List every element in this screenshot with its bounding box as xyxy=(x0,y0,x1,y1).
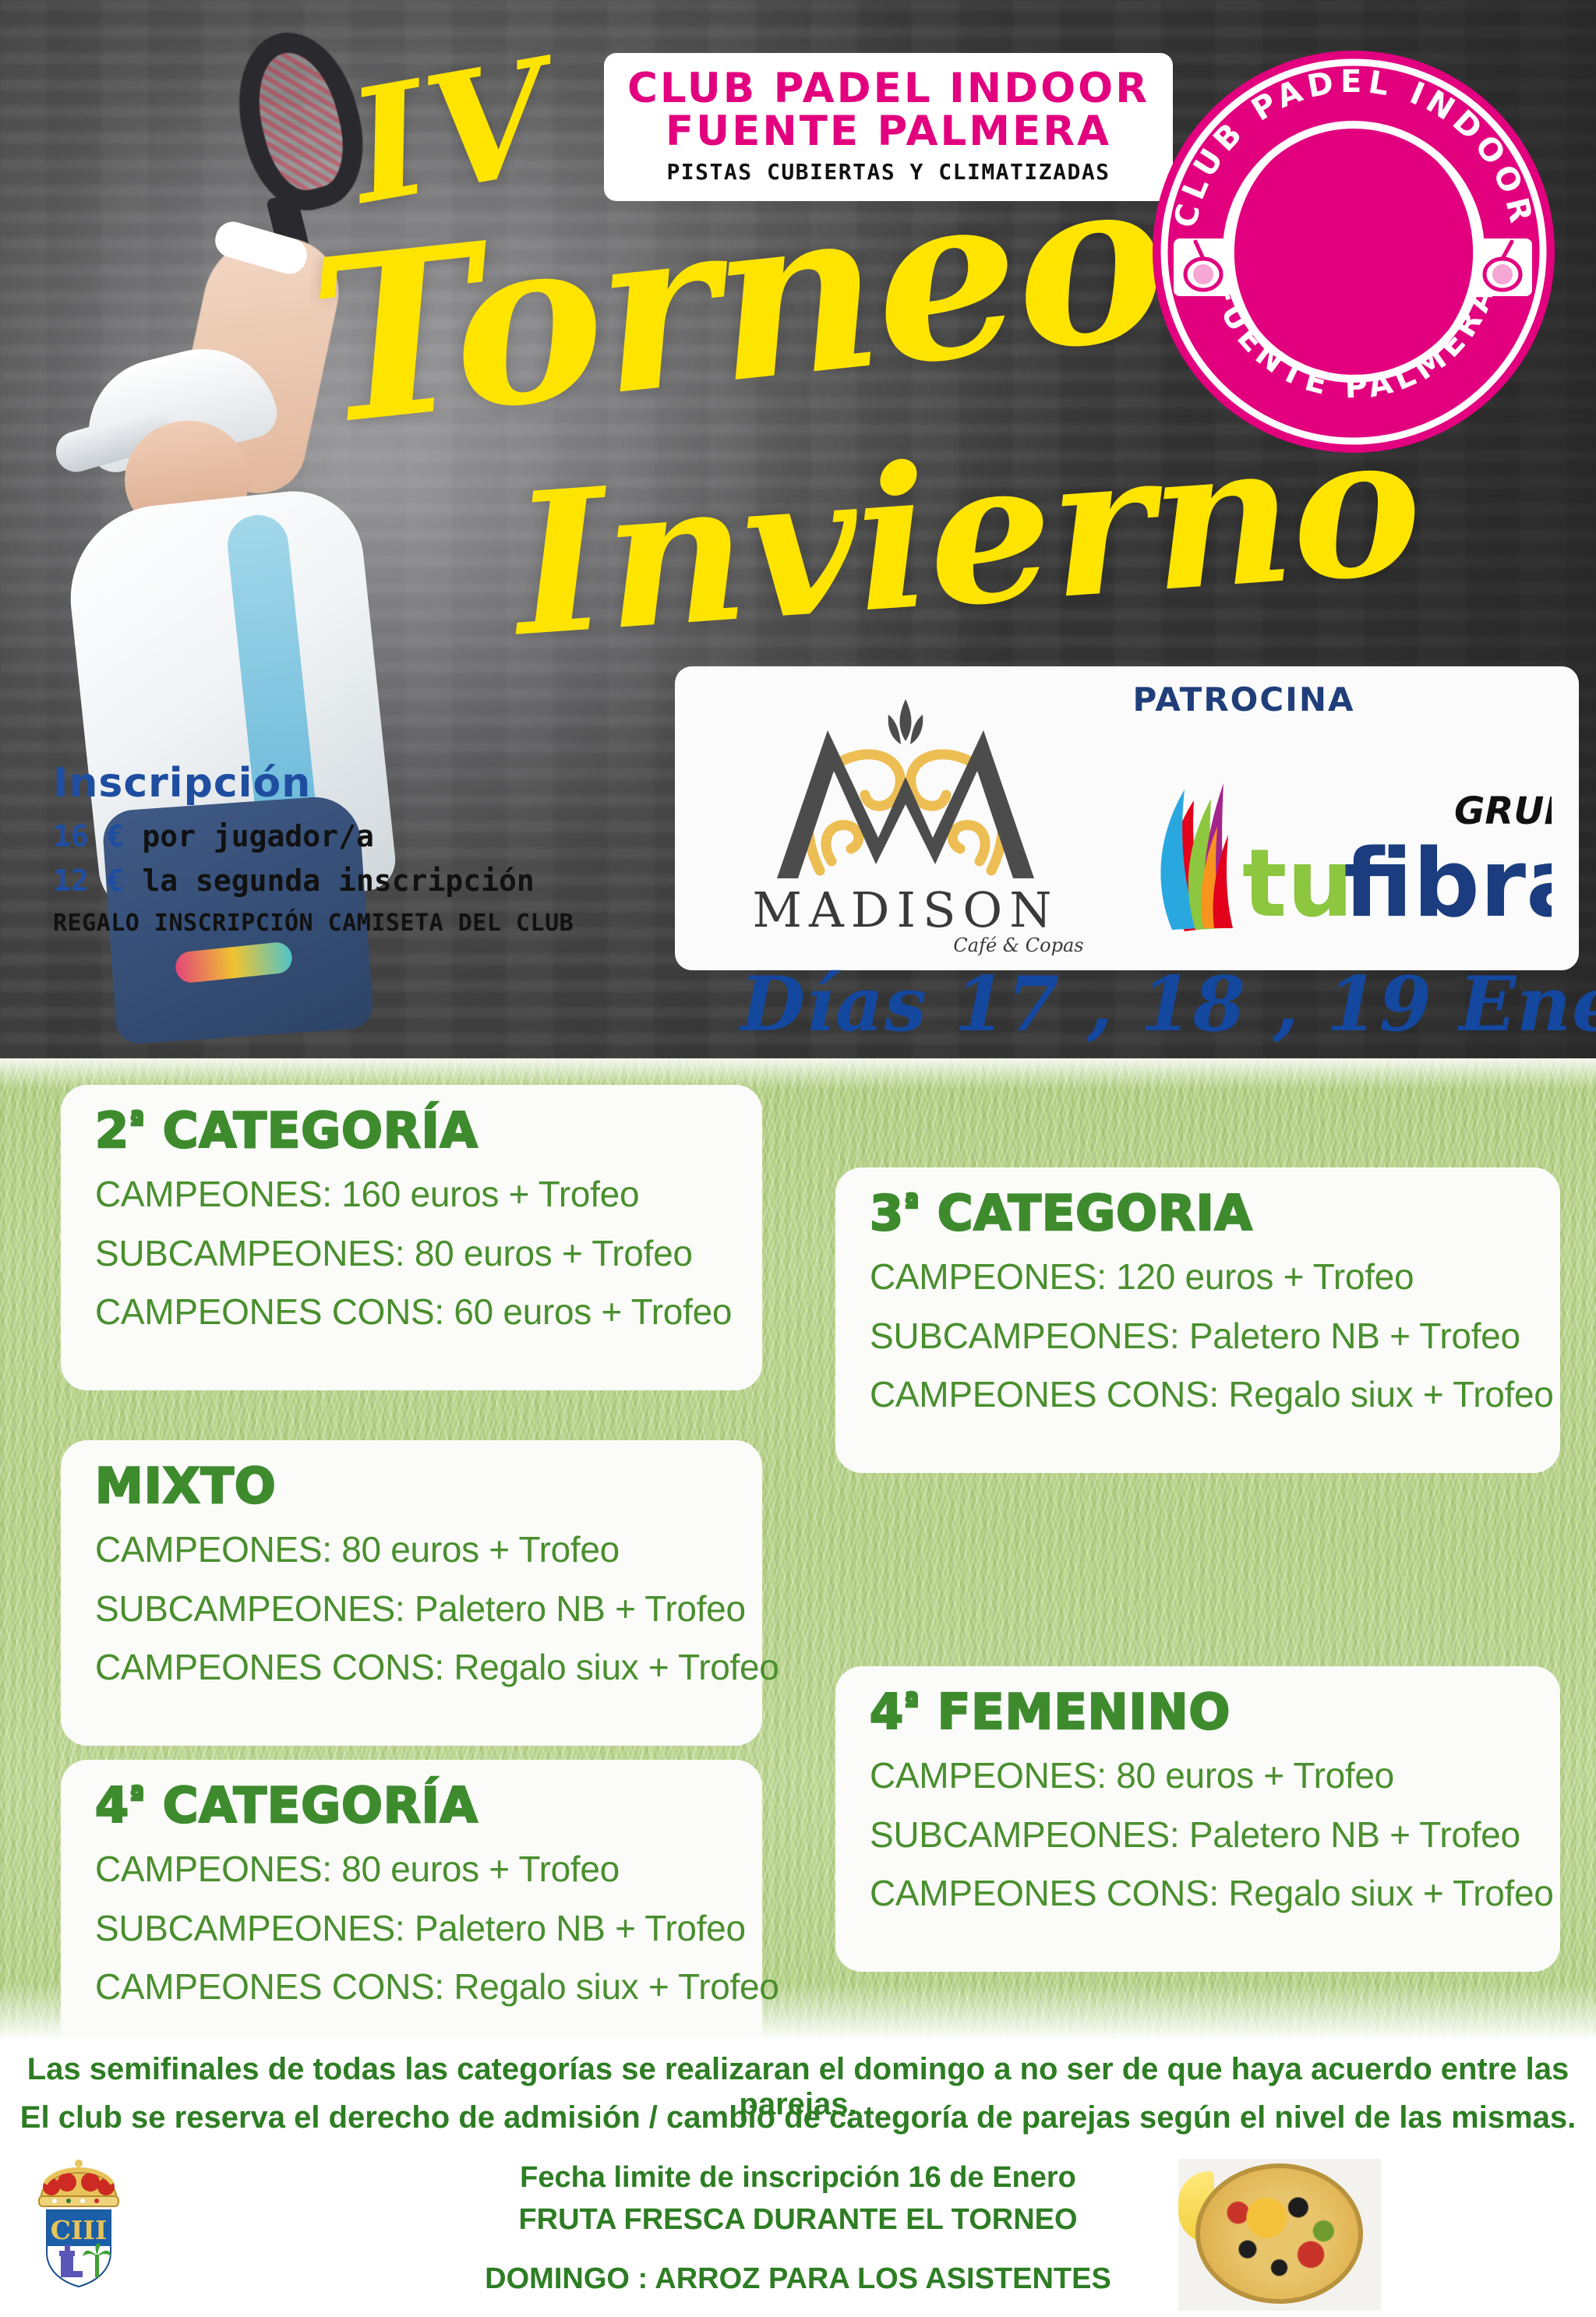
category-title: 4ª FEMENINO xyxy=(870,1687,1526,1737)
club-name-subtitle: PISTAS CUBIERTAS Y CLIMATIZADAS xyxy=(666,159,1110,185)
paella-photo xyxy=(1178,2159,1381,2311)
category-title-number: 3 xyxy=(870,1185,904,1242)
category-title-ordinal: ª xyxy=(904,1687,920,1718)
prize-line-champions: CAMPEONES: 160 euros + Trofeo xyxy=(95,1174,728,1215)
category-title-ordinal: ª xyxy=(129,1106,145,1137)
prize-line-consolation: CAMPEONES CONS: Regalo siux + Trofeo xyxy=(95,1967,728,2008)
category-title: 4ª CATEGORÍA xyxy=(95,1780,728,1831)
inscription-heading: Inscripción xyxy=(53,760,598,807)
category-title-number: 4 xyxy=(870,1683,904,1740)
category-title-number: 4 xyxy=(95,1777,129,1834)
category-title-rest: CATEGORÍA xyxy=(145,1777,478,1834)
prize-line-champions: CAMPEONES: 120 euros + Trofeo xyxy=(870,1257,1526,1298)
tufibra-tu-text: tu xyxy=(1242,830,1354,938)
prize-line-runnersup: SUBCAMPEONES: Paletero NB + Trofeo xyxy=(870,1316,1526,1357)
racquet-right-icon xyxy=(1474,238,1532,296)
prize-line-champions: CAMPEONES: 80 euros + Trofeo xyxy=(95,1530,728,1570)
inscription-block: Inscripción 16 € por jugador/a 12 € la s… xyxy=(53,760,598,937)
prize-line-champions: CAMPEONES: 80 euros + Trofeo xyxy=(95,1849,728,1890)
inscription-price-1-label: por jugador/a xyxy=(142,819,373,853)
prize-line-runnersup: SUBCAMPEONES: Paletero NB + Trofeo xyxy=(95,1909,728,1949)
sponsors-plate: PATROCINA MADISON Café & Copas xyxy=(675,666,1579,970)
crown-icon xyxy=(39,2160,118,2206)
madison-wordmark: MADISON xyxy=(752,881,1058,938)
paella-pan xyxy=(1195,2163,1363,2304)
racquet-left-icon xyxy=(1174,238,1231,296)
inscription-price-2: 12 € la segunda inscripción xyxy=(53,859,598,903)
prize-line-consolation: CAMPEONES CONS: Regalo siux + Trofeo xyxy=(870,1375,1526,1415)
club-name-line1: CLUB PADEL INDOOR xyxy=(627,68,1149,110)
category-title: MIXTO xyxy=(95,1460,728,1511)
tournament-dates: Días 17 , 18 , 19 Enero xyxy=(740,960,1566,1047)
club-logo-badge: CLUB PADEL INDOOR FUENTE PALMERA xyxy=(1147,45,1560,458)
category-title-rest: FEMENINO xyxy=(920,1683,1231,1740)
prize-line-consolation: CAMPEONES CONS: 60 euros + Trofeo xyxy=(95,1292,728,1333)
fuente-palmera-coat-of-arms: CIII xyxy=(20,2153,137,2297)
tufibra-fibra-text: fibra xyxy=(1344,830,1552,938)
madison-logo: MADISON Café & Copas xyxy=(703,683,1108,956)
prize-line-consolation: CAMPEONES CONS: Regalo siux + Trofeo xyxy=(95,1648,728,1688)
patrocina-label: PATROCINA xyxy=(1096,680,1392,719)
inscription-price-2-amount: 12 € xyxy=(53,864,125,898)
category-title-rest: MIXTO xyxy=(95,1457,277,1514)
escudo-monogram: CIII xyxy=(51,2215,108,2245)
club-name-line2: FUENTE PALMERA xyxy=(666,111,1111,153)
tufibra-logo: tu fibra GRUPO xyxy=(1127,768,1552,947)
inscription-price-1: 16 € por jugador/a xyxy=(53,814,598,859)
prize-line-consolation: CAMPEONES CONS: Regalo siux + Trofeo xyxy=(870,1874,1526,1914)
category-title: 2ª CATEGORÍA xyxy=(95,1105,728,1156)
category-title-rest: CATEGORIA xyxy=(920,1185,1252,1242)
club-name-plate: CLUB PADEL INDOOR FUENTE PALMERA PISTAS … xyxy=(604,53,1173,201)
category-title-number: 2 xyxy=(95,1102,129,1159)
category-card-3a: 3ª CATEGORIA CAMPEONES: 120 euros + Trof… xyxy=(835,1167,1560,1473)
madison-tagline: Café & Copas xyxy=(953,934,1083,956)
category-card-mixto: MIXTO CAMPEONES: 80 euros + Trofeo SUBCA… xyxy=(61,1440,762,1746)
category-card-4a: 4ª CATEGORÍA CAMPEONES: 80 euros + Trofe… xyxy=(61,1760,762,2065)
category-card-2a: 2ª CATEGORÍA CAMPEONES: 160 euros + Trof… xyxy=(61,1085,762,1390)
inscription-price-1-amount: 16 € xyxy=(53,819,125,853)
category-title-ordinal: ª xyxy=(129,1781,145,1812)
footer-rights-note: El club se reserva el derecho de admisió… xyxy=(0,2100,1596,2135)
prize-line-champions: CAMPEONES: 80 euros + Trofeo xyxy=(870,1756,1526,1796)
prize-line-runnersup: SUBCAMPEONES: Paletero NB + Trofeo xyxy=(870,1815,1526,1856)
poster-root: IV Torneo Invierno CLUB PADEL INDOOR FUE… xyxy=(0,0,1596,2317)
prize-line-runnersup: SUBCAMPEONES: 80 euros + Trofeo xyxy=(95,1234,728,1274)
tufibra-grupo-text: GRUPO xyxy=(1454,789,1552,833)
prize-line-runnersup: SUBCAMPEONES: Paletero NB + Trofeo xyxy=(95,1589,728,1630)
category-card-4a-femenino: 4ª FEMENINO CAMPEONES: 80 euros + Trofeo… xyxy=(835,1666,1560,1972)
inscription-price-2-label: la segunda inscripción xyxy=(142,864,534,898)
category-title-ordinal: ª xyxy=(904,1189,920,1220)
category-title-rest: CATEGORÍA xyxy=(145,1102,478,1159)
category-title: 3ª CATEGORIA xyxy=(870,1188,1526,1238)
inscription-gift-note: REGALO INSCRIPCIÓN CAMISETA DEL CLUB xyxy=(53,909,598,937)
